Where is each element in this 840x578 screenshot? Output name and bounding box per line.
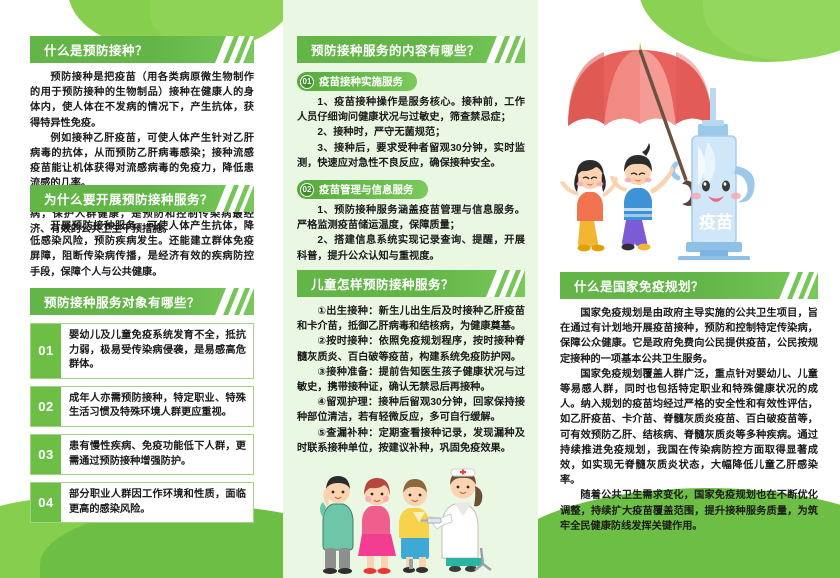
- figure-boy-blue-shirt: [610, 143, 674, 250]
- section-header-service-targets: 预防接种服务对象有哪些？: [30, 288, 254, 315]
- paragraph: 国家免疫规划覆盖人群广泛，重点针对婴幼儿、儿童等易感人群，同时也包括特定职业和特…: [560, 367, 818, 489]
- paragraph: ⑤查漏补种：定期查看接种记录，发现漏种及时联系接种单位，按建议补种，巩固免疫效果…: [297, 426, 525, 456]
- paragraph: 2、接种时，严守无菌规范；: [297, 125, 525, 140]
- numbered-card-list: 01 婴幼儿及儿童免疫系统发育不全，抵抗力弱，极易受传染病侵袭，是易感高危群体。…: [30, 323, 254, 523]
- figure-boy-green-shirt: [320, 476, 353, 574]
- mid-section-1: 预防接种服务的内容有哪些？ 01 疫苗接种实施服务 1、疫苗接种操作是服务核心。…: [297, 36, 525, 264]
- item-text: 部分职业人群因工作环境和性质，面临更高的感染风险。: [61, 483, 253, 522]
- item-text: 患有慢性疾病、免疫功能低下人群，更需通过预防接种增强防护。: [61, 435, 253, 474]
- item-number: 04: [31, 483, 61, 522]
- paragraph: ④留观护理：接种后留观30分钟，回家保持接种部位清洁，若有轻微反应，多可自行缓解…: [297, 395, 525, 425]
- item-number: 02: [31, 387, 61, 426]
- paragraph: 开展预防接种服务，可使人体产生抗体，降低感染风险，预防疾病发生。还能建立群体免疫…: [30, 219, 254, 280]
- paragraph: 国家免疫规划是由政府主导实施的公共卫生项目，旨在通过有计划地开展疫苗接种，预防和…: [560, 306, 818, 367]
- paragraph: ③接种准备：提前告知医生孩子健康状况与过敏史，携带接种证，确认无禁忌后再接种。: [297, 365, 525, 395]
- paragraph: 1、预防接种服务涵盖疫苗管理与信息服务。严格监测疫苗储运温度，保障质量；: [297, 203, 525, 233]
- left-section-3: 预防接种服务对象有哪些？ 01 婴幼儿及儿童免疫系统发育不全，抵抗力弱，极易受传…: [30, 288, 254, 523]
- section-title: 儿童怎样预防接种服务？: [297, 274, 454, 293]
- paragraph: 随着公共卫生需求变化，国家免疫规划也在不断优化调整，持续扩大疫苗覆盖范围，提升接…: [560, 488, 818, 534]
- pill-label: 疫苗管理与信息服务: [319, 182, 414, 197]
- diagonal-stripes-decor: [491, 270, 519, 297]
- section-header-service-contents: 预防接种服务的内容有哪些？: [297, 36, 525, 63]
- section-header-children-vaccination: 儿童怎样预防接种服务？: [297, 270, 525, 297]
- diagonal-stripes-decor: [491, 36, 519, 63]
- umbrella-vaccine-children-illustration: 疫苗: [558, 28, 820, 260]
- paragraph: 3、接种后，要求受种者留观30分钟，实时监测，快速应对急性不良反应，确保接种安全…: [297, 141, 525, 171]
- diagonal-stripes-decor: [220, 288, 248, 315]
- section-header-what-is-vaccination: 什么是预防接种？: [30, 36, 254, 63]
- paragraph: 1、疫苗接种操作是服务核心。接种前，工作人员仔细询问健康状况与过敏史，筛查禁忌症…: [297, 95, 525, 125]
- paragraph: 2、搭建信息系统实现记录查询、提醒，开展科普，提升公众认知与重视度。: [297, 233, 525, 263]
- section-header-why-vaccination-service: 为什么要开展预防接种服务？: [30, 185, 254, 212]
- diagonal-stripes-decor: [220, 185, 248, 212]
- subsection-pill-02: 02 疫苗管理与信息服务: [297, 180, 428, 199]
- paragraph: 预防接种是把疫苗（用各类病原微生物制作的用于预防接种的生物制品）接种在健康人的身…: [30, 70, 254, 131]
- section-title: 预防接种服务的内容有哪些？: [297, 40, 480, 59]
- vaccination-clinic-illustration: [305, 456, 520, 574]
- mid-section-2: 儿童怎样预防接种服务？ ①出生接种：新生儿出生后及时接种乙肝疫苗和卡介苗，抵御乙…: [297, 270, 525, 456]
- figure-nurse-with-syringe: [421, 469, 491, 572]
- syringe-label: 疫苗: [699, 212, 733, 232]
- figure-girl-pink-skirt: [358, 478, 396, 574]
- item-text: 成年人亦需预防接种，特定职业、特殊生活习惯及特殊环境人群更应重视。: [61, 387, 253, 426]
- list-item: 02 成年人亦需预防接种，特定职业、特殊生活习惯及特殊环境人群更应重视。: [30, 386, 254, 427]
- pill-label: 疫苗接种实施服务: [319, 74, 403, 89]
- section-title: 预防接种服务对象有哪些？: [30, 292, 200, 311]
- figure-girl-orange-shirt: [560, 160, 618, 251]
- paragraph: ①出生接种：新生儿出生后及时接种乙肝疫苗和卡介苗，抵御乙肝病毒和结核病，为健康奠…: [297, 304, 525, 334]
- section-title: 为什么要开展预防接种服务？: [30, 189, 213, 208]
- paragraph: 例如接种乙肝疫苗，可使人体产生针对乙肝病毒的抗体，从而预防乙肝病毒感染；接种流感…: [30, 131, 254, 192]
- right-section-1: 什么是国家免疫规划？ 国家免疫规划是由政府主导实施的公共卫生项目，旨在通过有计划…: [560, 272, 818, 534]
- pill-number: 01: [300, 75, 314, 89]
- list-item: 04 部分职业人群因工作环境和性质，面临更高的感染风险。: [30, 482, 254, 523]
- item-number: 03: [31, 435, 61, 474]
- paragraph: ②按时接种：依照免疫规划程序，按时接种脊髓灰质炎、百白破等疫苗，构建系统免疫防护…: [297, 334, 525, 364]
- left-section-2: 为什么要开展预防接种服务？ 开展预防接种服务，可使人体产生抗体，降低感染风险，预…: [30, 185, 254, 280]
- list-item: 03 患有慢性疾病、免疫功能低下人群，更需通过预防接种增强防护。: [30, 434, 254, 475]
- pill-number: 02: [300, 183, 314, 197]
- item-text: 婴幼儿及儿童免疫系统发育不全，抵抗力弱，极易受传染病侵袭，是易感高危群体。: [61, 324, 253, 378]
- section-title: 什么是预防接种？: [30, 40, 148, 59]
- item-number: 01: [31, 324, 61, 378]
- diagonal-stripes-decor: [220, 36, 248, 63]
- section-header-national-immunization-program: 什么是国家免疫规划？: [560, 272, 818, 299]
- poster-root: 什么是预防接种？ 预防接种是把疫苗（用各类病原微生物制作的用于预防接种的生物制品…: [0, 0, 840, 578]
- section-title: 什么是国家免疫规划？: [560, 276, 704, 295]
- subsection-pill-01: 01 疫苗接种实施服务: [297, 72, 417, 91]
- diagonal-stripes-decor: [784, 272, 812, 299]
- column-right: 疫苗: [538, 0, 840, 578]
- column-middle: 预防接种服务的内容有哪些？ 01 疫苗接种实施服务 1、疫苗接种操作是服务核心。…: [283, 0, 538, 578]
- column-left: 什么是预防接种？ 预防接种是把疫苗（用各类病原微生物制作的用于预防接种的生物制品…: [0, 0, 283, 578]
- list-item: 01 婴幼儿及儿童免疫系统发育不全，抵抗力弱，极易受传染病侵袭，是易感高危群体。: [30, 323, 254, 379]
